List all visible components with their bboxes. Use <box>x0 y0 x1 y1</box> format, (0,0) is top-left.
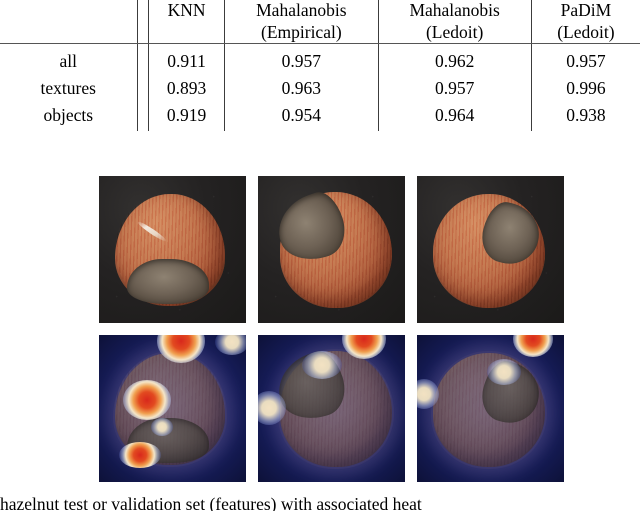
heatmap-hotspot-mid-3 <box>487 359 521 385</box>
column-header-padim-ledoit: PaDiM (Ledoit) <box>531 0 640 43</box>
hazelnut-defect-1 <box>127 259 209 304</box>
cell-all-mahalanobis-empirical: 0.957 <box>225 50 378 77</box>
heatmap-hotspot-main-1 <box>123 380 171 420</box>
row-label-textures: textures <box>0 77 137 104</box>
table-row: objects 0.919 0.954 0.964 0.938 <box>0 104 640 131</box>
hazelnut-heatmap-2 <box>258 335 405 482</box>
photo-row <box>99 176 542 323</box>
cell-all-mahalanobis-ledoit: 0.962 <box>378 50 531 77</box>
hazelnut-heatmap-3 <box>417 335 564 482</box>
table-header-row: KNN Mahalanobis (Empirical) Mahalanobis … <box>0 0 640 43</box>
cell-all-knn: 0.911 <box>148 50 224 77</box>
cell-objects-mahalanobis-ledoit: 0.964 <box>378 104 531 131</box>
heatmap-hotspot-top-3 <box>513 335 553 357</box>
header-corner-cell <box>0 0 137 43</box>
hazelnut-heatmap-1 <box>99 335 246 482</box>
column-header-knn: KNN <box>148 0 224 43</box>
row-double-rule-textures <box>137 77 148 104</box>
figure-image-grid <box>99 176 542 482</box>
row-label-objects: objects <box>0 104 137 131</box>
cell-objects-padim-ledoit: 0.938 <box>531 104 640 131</box>
column-header-mahalanobis-ledoit: Mahalanobis (Ledoit) <box>378 0 531 43</box>
heatmap-row <box>99 335 542 482</box>
column-header-mahalanobis-empirical: Mahalanobis (Empirical) <box>225 0 378 43</box>
cell-textures-knn: 0.893 <box>148 77 224 104</box>
row-double-rule-objects <box>137 104 148 131</box>
heatmap-hotspot-mid-1 <box>151 418 173 436</box>
heatmap-hotspot-mid-2 <box>302 351 342 379</box>
figure-caption: hazelnut test or validation set (feature… <box>0 494 640 511</box>
column-header-padim-ledoit-line2: (Ledoit) <box>532 22 640 44</box>
hazelnut-photo-1 <box>99 176 246 323</box>
cell-textures-mahalanobis-ledoit: 0.957 <box>378 77 531 104</box>
column-header-padim-ledoit-line1: PaDiM <box>532 0 640 22</box>
cell-objects-knn: 0.919 <box>148 104 224 131</box>
column-header-mahalanobis-ledoit-line2: (Ledoit) <box>379 22 531 44</box>
cell-textures-padim-ledoit: 0.996 <box>531 77 640 104</box>
heatmap-hotspot-bottom-1 <box>119 442 161 468</box>
results-table: KNN Mahalanobis (Empirical) Mahalanobis … <box>0 0 640 131</box>
column-header-mahalanobis-empirical-line1: Mahalanobis <box>225 0 377 22</box>
cell-all-padim-ledoit: 0.957 <box>531 50 640 77</box>
table-row: all 0.911 0.957 0.962 0.957 <box>0 50 640 77</box>
row-double-rule-all <box>137 50 148 77</box>
row-label-all: all <box>0 50 137 77</box>
column-header-mahalanobis-empirical-line2: (Empirical) <box>225 22 377 44</box>
header-double-rule <box>137 0 148 43</box>
hazelnut-photo-3 <box>417 176 564 323</box>
heatmap-hotspot-right-1 <box>215 335 246 355</box>
hazelnut-photo-2 <box>258 176 405 323</box>
column-header-knn-line1: KNN <box>149 0 224 22</box>
table-row: textures 0.893 0.963 0.957 0.996 <box>0 77 640 104</box>
cell-objects-mahalanobis-empirical: 0.954 <box>225 104 378 131</box>
cell-textures-mahalanobis-empirical: 0.963 <box>225 77 378 104</box>
column-header-mahalanobis-ledoit-line1: Mahalanobis <box>379 0 531 22</box>
